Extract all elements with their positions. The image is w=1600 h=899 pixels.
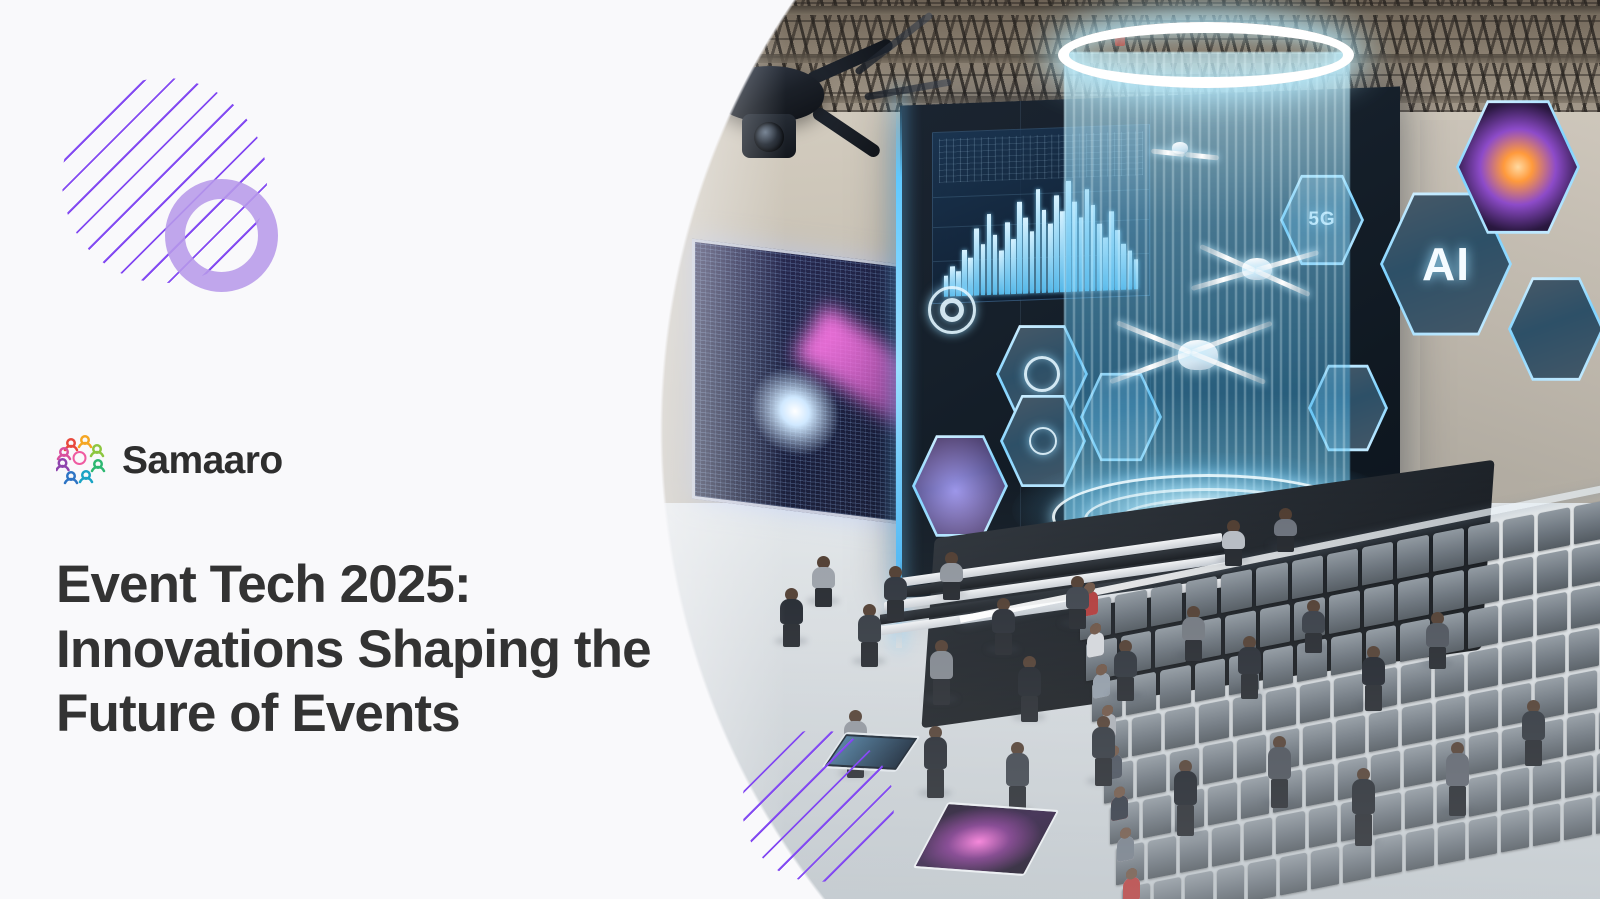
seat — [1300, 680, 1330, 724]
standing-attendee — [1444, 742, 1470, 810]
seat — [1143, 795, 1172, 839]
seat — [1468, 647, 1498, 691]
standing-attendee — [1266, 736, 1292, 802]
seat — [1537, 550, 1568, 594]
seat — [1533, 761, 1561, 804]
seat — [1469, 731, 1498, 775]
seat — [1468, 521, 1499, 565]
seat — [1433, 570, 1464, 614]
striped-circle-decoration-bottom — [742, 730, 894, 882]
seat — [1309, 805, 1337, 848]
seat — [1276, 811, 1304, 854]
seat — [1402, 702, 1431, 746]
seat — [1574, 500, 1600, 544]
seat — [1564, 797, 1592, 840]
seat — [1331, 632, 1361, 676]
hud-gauge-inner-icon — [940, 298, 964, 322]
seat — [1185, 871, 1213, 899]
standing-attendee — [1236, 636, 1262, 692]
micro-drone-1 — [1150, 132, 1220, 172]
seat — [1538, 507, 1569, 551]
seat — [1241, 776, 1270, 820]
standing-attendee — [1112, 640, 1138, 694]
standing-attendee — [882, 566, 908, 614]
seat — [1502, 598, 1532, 642]
seat — [1165, 706, 1195, 750]
seat — [1221, 569, 1252, 613]
seat — [1280, 852, 1308, 895]
seat — [1154, 877, 1182, 899]
seat — [1199, 700, 1229, 744]
seat — [1369, 709, 1398, 753]
seat — [1468, 563, 1499, 607]
seat — [1212, 823, 1240, 866]
seat — [1329, 590, 1360, 634]
seat — [1502, 641, 1532, 685]
seat — [1596, 791, 1600, 834]
seat — [1303, 721, 1332, 765]
seat — [1468, 605, 1498, 649]
seat — [1501, 809, 1529, 852]
seat — [1406, 828, 1434, 871]
seat — [1266, 686, 1296, 730]
standing-attendee — [1520, 700, 1546, 760]
standing-attendee — [810, 556, 836, 600]
seat — [1572, 543, 1600, 587]
seat — [1306, 763, 1335, 807]
hex-badge-ai-label: AI — [1422, 237, 1470, 291]
seat — [1311, 846, 1339, 889]
standing-attendee — [928, 640, 954, 698]
seat — [1373, 792, 1401, 835]
seat — [1362, 542, 1393, 586]
seat — [1336, 715, 1365, 759]
seat — [1237, 734, 1266, 778]
standing-attendee — [922, 726, 948, 792]
brand-lockup[interactable]: Samaaro — [56, 432, 283, 488]
seat — [1469, 815, 1497, 858]
seat — [1115, 590, 1146, 634]
seat — [1536, 634, 1566, 678]
seat — [1334, 673, 1364, 717]
seat — [1364, 583, 1395, 627]
brand-name: Samaaro — [122, 441, 283, 480]
seat — [1151, 583, 1182, 627]
seat — [1292, 555, 1323, 599]
standing-attendee — [938, 552, 964, 592]
seat — [1565, 755, 1593, 798]
seat — [1195, 658, 1225, 702]
standing-attendee — [1272, 508, 1298, 544]
seated-attendee — [1117, 835, 1134, 862]
seat — [1537, 592, 1567, 636]
seat — [1148, 836, 1176, 879]
seat — [1208, 782, 1237, 826]
seated-attendee — [1123, 876, 1140, 899]
seat — [1327, 548, 1358, 592]
blog-banner: Samaaro Event Tech 2025: Innovations Sha… — [0, 0, 1600, 899]
standing-attendee — [1016, 656, 1042, 716]
samaaro-logo-icon — [56, 432, 108, 488]
standing-attendee — [1300, 600, 1326, 646]
seat — [1567, 712, 1596, 756]
seat — [1256, 562, 1287, 606]
standing-attendee — [1360, 646, 1386, 704]
seat — [1503, 514, 1534, 558]
seated-attendee — [1087, 631, 1104, 658]
seat — [1568, 670, 1597, 714]
standing-attendee — [778, 588, 804, 640]
page-title: Event Tech 2025: Innovations Shaping the… — [56, 553, 756, 747]
seat — [1438, 822, 1466, 865]
seat — [1263, 645, 1293, 689]
standing-attendee — [1350, 768, 1376, 840]
seat — [1571, 585, 1600, 629]
seat — [1248, 858, 1276, 899]
seat — [1433, 528, 1464, 572]
seat — [1203, 741, 1232, 785]
seat — [1397, 535, 1428, 579]
seat — [1533, 803, 1561, 846]
seat — [1137, 754, 1166, 798]
seat — [1569, 628, 1599, 672]
seat — [1405, 786, 1433, 829]
standing-attendee — [1064, 576, 1090, 622]
seat — [1233, 693, 1263, 737]
micro-drone-3 — [1096, 290, 1286, 410]
seat — [1436, 696, 1465, 740]
left-content-panel: Samaaro Event Tech 2025: Innovations Sha… — [0, 0, 760, 899]
seat — [1244, 817, 1272, 860]
seat — [1343, 840, 1371, 883]
standing-attendee — [1424, 612, 1450, 662]
standing-attendee — [1180, 606, 1206, 654]
seat — [1401, 660, 1431, 704]
purple-ring-decoration — [165, 179, 278, 292]
standing-attendee — [856, 604, 882, 660]
holographic-ceiling-ring — [1058, 22, 1354, 88]
seat — [1469, 689, 1498, 733]
seat — [1217, 864, 1245, 899]
standing-attendee — [1220, 520, 1246, 558]
seat — [1501, 767, 1529, 810]
seat — [1260, 604, 1291, 648]
seat — [1503, 556, 1534, 600]
seat — [1160, 665, 1190, 709]
standing-attendee — [1090, 716, 1116, 780]
seat — [1404, 744, 1433, 788]
seated-attendee — [1111, 794, 1128, 821]
standing-attendee — [1004, 742, 1030, 810]
seat — [1132, 713, 1162, 757]
standing-attendee — [1172, 760, 1198, 830]
seat — [1180, 829, 1208, 872]
standing-attendee — [990, 598, 1016, 648]
